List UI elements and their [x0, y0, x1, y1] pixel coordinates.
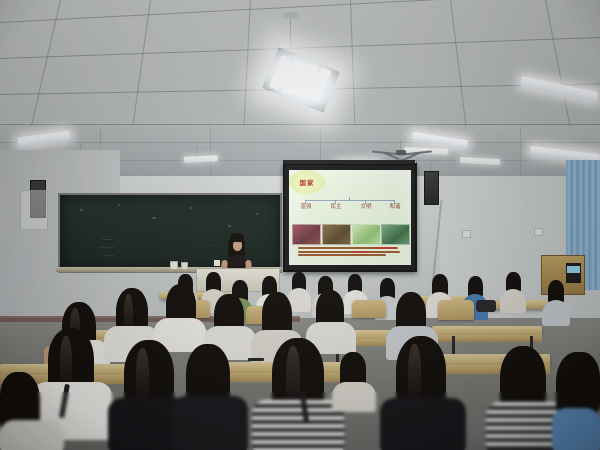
- chalk-eraser-2: [181, 262, 188, 270]
- ceiling-mount-plate: [283, 12, 299, 19]
- chalk-box-1: [214, 260, 220, 266]
- slide-branch-1: 富强: [295, 204, 317, 210]
- classroom-photo: 国家 富强 民主 文明 和谐: [0, 0, 600, 450]
- slide-root-node: 国家: [289, 170, 325, 194]
- slide-photo-2: [322, 224, 351, 245]
- slide-photo-4: [381, 224, 410, 245]
- pen-on-desk: [248, 358, 264, 361]
- projection-screen: 国家 富强 民主 文明 和谐: [289, 170, 411, 265]
- chair-back-4: [438, 300, 474, 320]
- slide-branch-3: 文明: [355, 204, 377, 210]
- wall-socket-2: [534, 228, 543, 236]
- wall-socket-1: [462, 230, 471, 238]
- slide-body-text: [295, 246, 405, 262]
- slide-branch-4: 和谐: [384, 204, 406, 210]
- slide-connector-stem: [349, 197, 350, 201]
- slide-branch-2: 民主: [325, 204, 347, 210]
- slide-photo-3: [352, 224, 381, 245]
- slide-root-label: 国家: [300, 177, 315, 187]
- wall-notice-board: [20, 190, 48, 230]
- slide-connector-horizontal: [305, 200, 395, 201]
- fan-hub: [396, 150, 406, 155]
- wall-speaker-right: [424, 171, 439, 205]
- screen-top-roller: [283, 160, 415, 164]
- cabinet-label: [567, 266, 580, 273]
- slide-photo-1: [292, 224, 321, 245]
- projection-screen-frame: 国家 富强 民主 文明 和谐: [283, 163, 417, 272]
- bag-on-desk: [476, 300, 496, 312]
- chair-back-3: [352, 300, 386, 318]
- chalk-eraser-1: [170, 261, 178, 270]
